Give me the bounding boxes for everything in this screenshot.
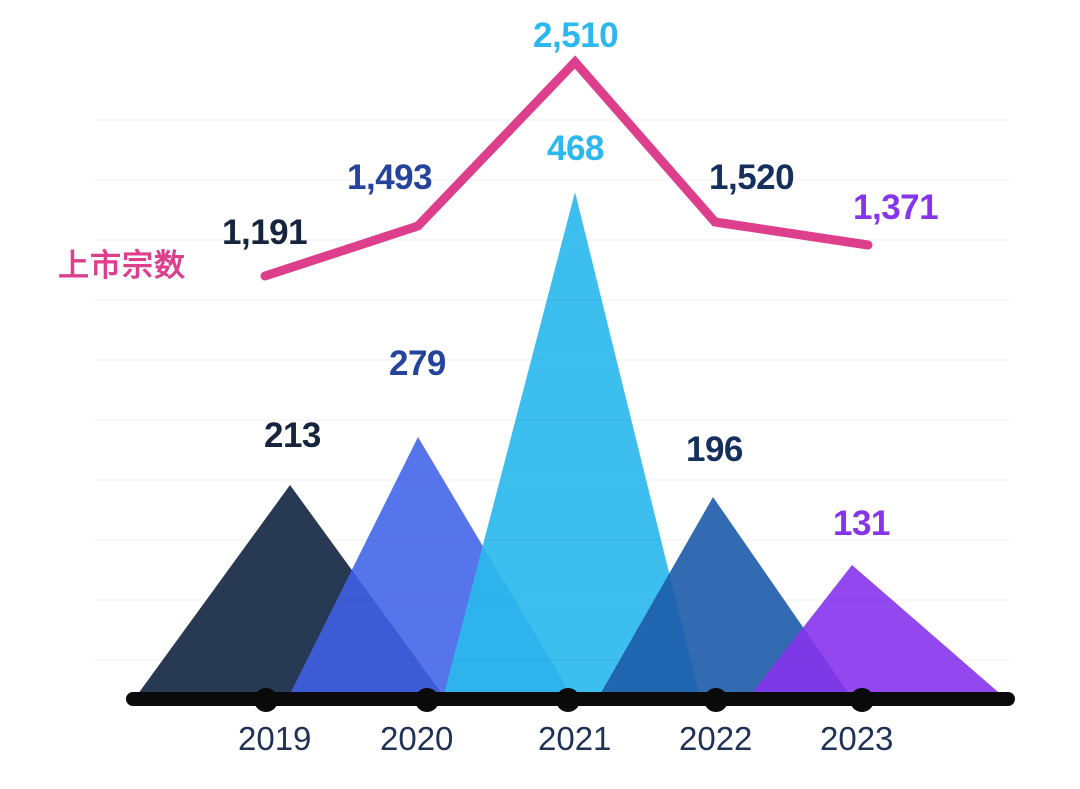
line-value-label-2020: 1,493 (347, 160, 432, 195)
line-value-label-2019: 1,191 (222, 215, 307, 250)
axis-dot-2020 (415, 688, 439, 712)
bar-value-label-2019: 213 (264, 418, 321, 453)
axis-label-2023: 2023 (820, 722, 893, 755)
bar-value-label-2021: 468 (547, 131, 604, 166)
axis-dot-2022 (704, 688, 728, 712)
axis-dot-2021 (556, 688, 580, 712)
axis-label-2020: 2020 (380, 722, 453, 755)
line-value-label-2021: 2,510 (533, 18, 618, 53)
bar-value-label-2022: 196 (686, 432, 743, 467)
line-value-label-2022: 1,520 (709, 160, 794, 195)
axis-dot-2019 (254, 688, 278, 712)
axis-label-2021: 2021 (538, 722, 611, 755)
series-legend-label: 上市宗数 (58, 250, 186, 281)
line-value-label-2023: 1,371 (853, 190, 938, 225)
bar-value-label-2020: 279 (389, 346, 446, 381)
axis-label-2019: 2019 (238, 722, 311, 755)
axis-dot-2023 (850, 688, 874, 712)
axis-label-2022: 2022 (679, 722, 752, 755)
chart-container: 上市宗数 1,191 1,493 2,510 1,520 1,371 213 2… (0, 0, 1080, 789)
bar-value-label-2023: 131 (833, 506, 890, 541)
chart-graphics (0, 0, 1080, 789)
